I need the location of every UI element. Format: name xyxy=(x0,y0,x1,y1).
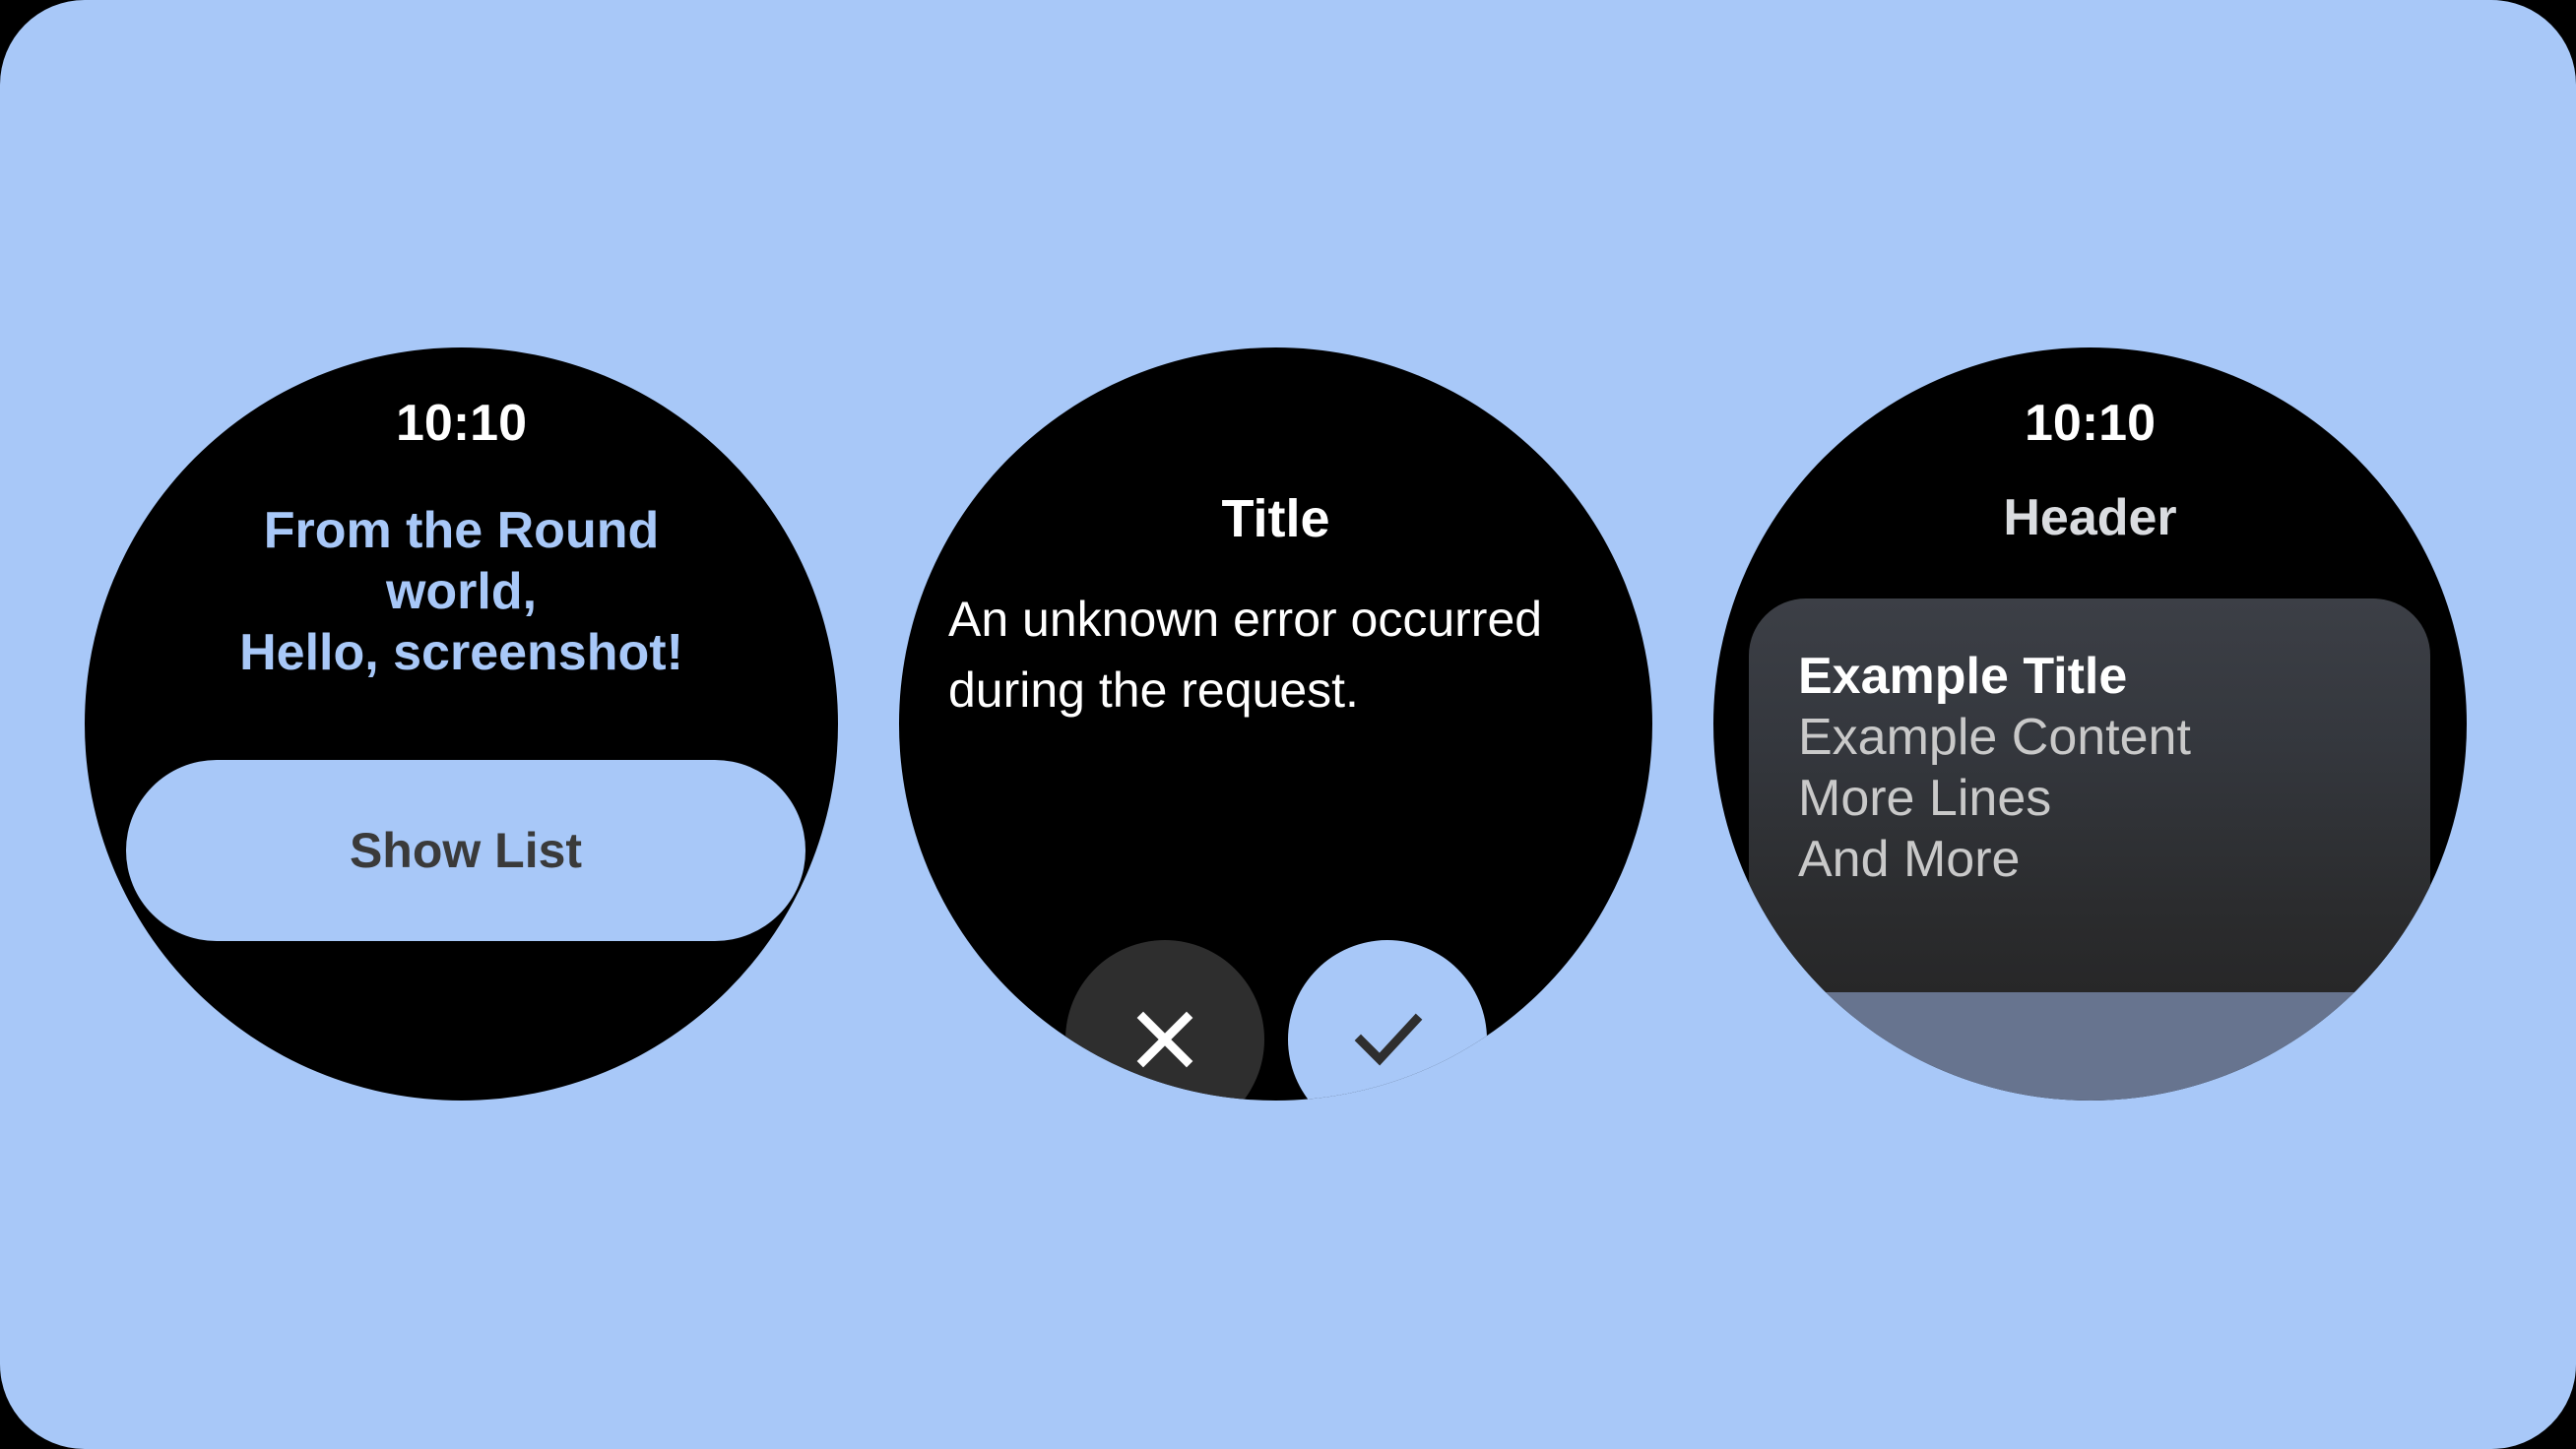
dialog-button-row xyxy=(899,940,1652,1101)
confirm-button[interactable] xyxy=(1288,940,1487,1101)
list-item-line-1: Example Content xyxy=(1798,707,2430,768)
close-icon xyxy=(1126,1000,1204,1079)
dialog-message: An unknown error occurred during the req… xyxy=(948,584,1603,725)
greeting-line-1: From the Round xyxy=(122,500,801,561)
dismiss-button[interactable] xyxy=(1065,940,1264,1101)
list-item-line-2: More Lines xyxy=(1798,768,2430,829)
screenshot-canvas: 10:10 From the Round world, Hello, scree… xyxy=(0,0,2576,1449)
list-header: Header xyxy=(1713,488,2467,547)
show-list-button[interactable]: Show List xyxy=(126,760,805,941)
list-item-title: Example Title xyxy=(1798,646,2430,707)
status-time: 10:10 xyxy=(85,394,838,453)
greeting-line-2: world, xyxy=(122,561,801,622)
round-alert-watch: Title An unknown error occurred during t… xyxy=(899,347,1652,1101)
greeting-text: From the Round world, Hello, screenshot! xyxy=(122,500,801,683)
list-item-line-3: And More xyxy=(1798,829,2430,890)
show-list-button-label: Show List xyxy=(350,822,582,879)
greeting-line-3: Hello, screenshot! xyxy=(122,622,801,683)
check-icon xyxy=(1343,995,1432,1084)
round-list-watch: 10:10 Header Example Title Example Conte… xyxy=(1713,347,2467,1101)
status-time: 10:10 xyxy=(1713,394,2467,453)
round-greeting-watch: 10:10 From the Round world, Hello, scree… xyxy=(85,347,838,1101)
dialog-title: Title xyxy=(899,488,1652,549)
list-item-card[interactable]: Example Title Example Content More Lines… xyxy=(1749,598,2430,992)
